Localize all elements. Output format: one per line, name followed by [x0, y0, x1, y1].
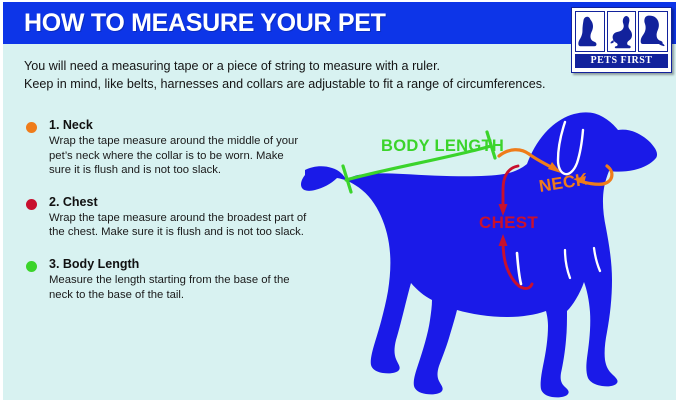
bullet-body-length-icon [26, 261, 37, 272]
step-title: 3. Body Length [49, 257, 308, 271]
intro-line-2: Keep in mind, like belts, harnesses and … [24, 75, 584, 93]
dog-sitting-icon [575, 11, 605, 52]
bullet-neck-icon [26, 122, 37, 133]
dog-silhouette-icon [301, 112, 657, 397]
dog-begging-icon [607, 11, 637, 52]
step-title: 2. Chest [49, 195, 308, 209]
logo-wordmark: PETS FIRST [575, 54, 668, 68]
step-body: Measure the length starting from the bas… [49, 273, 308, 302]
infographic-canvas: HOW TO MEASURE YOUR PET [3, 2, 676, 400]
list-item: 3. Body Length Measure the length starti… [23, 257, 308, 302]
intro-text: You will need a measuring tape or a piec… [24, 57, 584, 93]
list-item: 1. Neck Wrap the tape measure around the… [23, 118, 308, 178]
bullet-chest-icon [26, 199, 37, 210]
logo-panels [575, 11, 668, 52]
list-item: 2. Chest Wrap the tape measure around th… [23, 195, 308, 240]
measure-your-pet-infographic: HOW TO MEASURE YOUR PET [0, 0, 679, 402]
annotation-label-body-length: BODY LENGTH [381, 137, 504, 155]
step-title: 1. Neck [49, 118, 308, 132]
measurement-steps-list: 1. Neck Wrap the tape measure around the… [23, 118, 308, 319]
brand-logo: PETS FIRST [571, 7, 672, 73]
step-body: Wrap the tape measure around the broades… [49, 211, 308, 240]
intro-line-1: You will need a measuring tape or a piec… [24, 57, 584, 75]
dog-sitting-alert-icon [638, 11, 668, 52]
step-body: Wrap the tape measure around the middle … [49, 134, 308, 178]
annotation-label-chest: CHEST [479, 213, 538, 232]
dog-measurement-diagram: BODY LENGTH NECK [299, 98, 676, 400]
page-title: HOW TO MEASURE YOUR PET [24, 9, 386, 38]
